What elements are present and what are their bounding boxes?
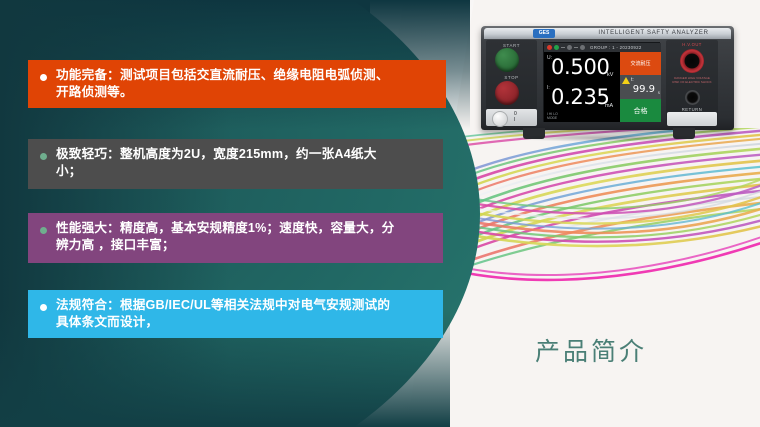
feature-bullet-list: 功能完备：测试项目包括交直流耐压、绝缘电阻电弧侦测、 开路侦测等。 极致轻巧：整… [0,0,470,427]
group-label: GROUP : 1 - 20230922 [590,45,642,50]
bullet-dot-icon [40,74,47,81]
stop-button[interactable] [495,81,519,105]
power-knob[interactable] [492,111,508,127]
feature-text: 极致轻巧：整机高度为2U，宽度215mm，约一张A4纸大 小； [56,146,377,179]
current-unit: mA [605,103,613,109]
screen-status-bar: GROUP : 1 - 20230922 [544,43,661,52]
step-indicator-icon [580,45,585,50]
high-voltage-warning-text: DANGER HIGH VOLTAGE RISK OF ELECTRIC SHO… [668,77,716,89]
screen-side-column: 交流耐压 t: 99.9 s 合格 [620,52,661,122]
feature-text: 功能完备：测试项目包括交直流耐压、绝缘电阻电弧侦测、 开路侦测等。 [56,67,389,100]
safety-analyzer-device: GES INTELLIGENT SAFTY ANALYZER START STO… [481,26,734,139]
voltage-value: 0.500 [551,57,610,78]
start-button-label: START [486,43,537,48]
timer-cell: t: 99.9 s [620,75,661,99]
device-screen[interactable]: GROUP : 1 - 20230922 U: 0.500 kV I: 0.23… [543,42,660,122]
start-button[interactable] [495,48,519,72]
bullet-dot-icon [40,304,47,311]
step-connector-icon [561,47,565,48]
hv-out-label: H.V.OUT [666,42,718,47]
screen-main-area: U: 0.500 kV I: 0.235 mA I HI LO MODE 交流耐… [544,52,661,122]
return-terminal[interactable] [685,90,700,105]
step-indicator-icon [554,45,559,50]
feature-item-compliance[interactable]: 法规符合：根据GB/IEC/UL等相关法规中对电气安规测试的 具体条文而设计， [28,290,443,338]
blank-plate [667,112,717,126]
step-indicator-icon [567,45,572,50]
feature-text: 性能强大：精度高，基本安规精度1%；速度快，容量大，分 辨力高 ，接口丰富； [56,220,394,253]
bullet-dot-icon [40,153,47,160]
hv-out-terminal[interactable] [680,49,704,73]
timer-value: 99.9 [633,84,655,95]
feature-text: 法规符合：根据GB/IEC/UL等相关法规中对电气安规测试的 具体条文而设计， [56,297,390,330]
feature-item-performance[interactable]: 性能强大：精度高，基本安规精度1%；速度快，容量大，分 辨力高 ，接口丰富； [28,213,443,263]
result-badge: 合格 [620,99,661,122]
screen-footer-note: I HI LO MODE [547,112,558,120]
test-mode-badge: 交流耐压 [620,52,661,75]
warning-triangle-icon [622,77,630,84]
current-value: 0.235 [551,87,610,108]
device-shadow [511,134,711,142]
stop-button-label: STOP [486,75,537,80]
measurement-readouts: U: 0.500 kV I: 0.235 mA I HI LO MODE [544,52,620,122]
step-indicator-icon [547,45,552,50]
step-connector-icon [574,47,578,48]
brand-logo: GES [533,29,555,38]
device-title: INTELLIGENT SAFTY ANALYZER [576,29,731,38]
current-label: I: [547,85,550,91]
feature-item-function[interactable]: 功能完备：测试项目包括交直流耐压、绝缘电阻电弧侦测、 开路侦测等。 [28,60,446,108]
power-icon: 0 I [514,111,528,124]
timer-label: t: [631,77,634,83]
feature-item-lightweight[interactable]: 极致轻巧：整机高度为2U，宽度215mm，约一张A4纸大 小； [28,139,443,189]
slide-canvas: 功能完备：测试项目包括交直流耐压、绝缘电阻电弧侦测、 开路侦测等。 极致轻巧：整… [0,0,760,427]
section-caption: 产品简介 [535,332,647,368]
voltage-unit: kV [607,72,613,78]
timer-unit: s [658,90,660,95]
bullet-dot-icon [40,227,47,234]
